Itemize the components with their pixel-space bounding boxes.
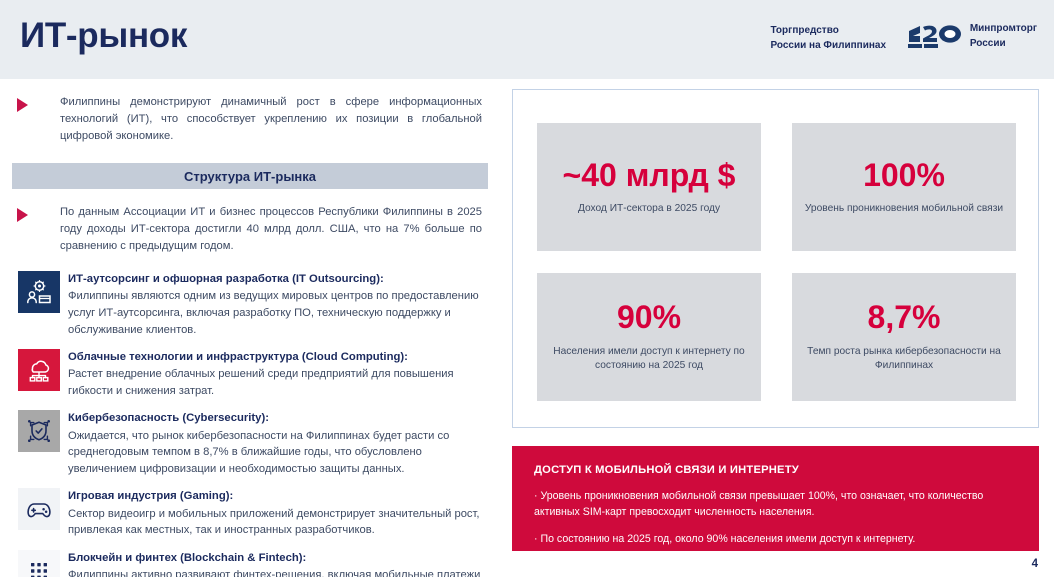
feature-description: Филиппины активно развивают финтех-решен… bbox=[68, 567, 484, 577]
feature-description: Ожидается, что рынок кибербезопасности н… bbox=[68, 428, 484, 478]
list-item: ИТ-аутсорсинг и офшорная разработка (IT … bbox=[0, 271, 500, 338]
callout-line-2: · По состоянию на 2025 год, около 90% на… bbox=[534, 532, 1017, 548]
stat-label: Темп роста рынка кибербезопасности на Фи… bbox=[802, 345, 1006, 374]
stat-card: 8,7% Темп роста рынка кибербезопасности … bbox=[792, 273, 1016, 401]
person-gear-icon bbox=[18, 271, 60, 313]
feature-title: Игровая индустрия (Gaming): bbox=[68, 489, 484, 504]
feature-title: Облачные технологии и инфраструктура (Cl… bbox=[68, 350, 484, 365]
callout-line-1: · Уровень проникновения мобильной связи … bbox=[534, 489, 1017, 521]
stat-value: 90% bbox=[617, 300, 681, 335]
statistics-panel: ~40 млрд $ Доход ИТ-сектора в 2025 году … bbox=[512, 89, 1039, 428]
section-band-label: Структура ИТ-рынка bbox=[184, 169, 316, 184]
feature-title: Блокчейн и финтех (Blockchain & Fintech)… bbox=[68, 551, 484, 566]
minpromtorg-120-logo-icon bbox=[907, 24, 963, 50]
stat-label: Уровень проникновения мобильной связи bbox=[805, 202, 1003, 216]
arrow-bullet-icon bbox=[17, 208, 28, 222]
stat-card: 90% Населения имели доступ к интернету п… bbox=[537, 273, 761, 401]
arrow-bullet-icon bbox=[17, 98, 28, 112]
feature-title: ИТ-аутсорсинг и офшорная разработка (IT … bbox=[68, 272, 484, 287]
left-column: Филиппины демонстрируют динамичный рост … bbox=[0, 79, 500, 577]
list-item: Игровая индустрия (Gaming): Сектор видео… bbox=[0, 488, 500, 538]
stat-card: 100% Уровень проникновения мобильной свя… bbox=[792, 123, 1016, 251]
association-bullet: По данным Ассоциации ИТ и бизнес процесс… bbox=[0, 204, 500, 255]
dot-grid-icon bbox=[18, 550, 60, 577]
gamepad-icon bbox=[18, 488, 60, 530]
feature-list: ИТ-аутсорсинг и офшорная разработка (IT … bbox=[0, 271, 500, 577]
stat-value: 8,7% bbox=[868, 300, 941, 335]
intro-text: Филиппины демонстрируют динамичный рост … bbox=[60, 94, 482, 145]
slide: ИТ-рынок Торгпредство России на Филиппин… bbox=[0, 0, 1054, 577]
stat-label: Доход ИТ-сектора в 2025 году bbox=[578, 202, 720, 216]
list-item: Блокчейн и финтех (Blockchain & Fintech)… bbox=[0, 550, 500, 577]
section-band: Структура ИТ-рынка bbox=[12, 163, 488, 189]
callout-box: ДОСТУП К МОБИЛЬНОЙ СВЯЗИ И ИНТЕРНЕТУ · У… bbox=[512, 446, 1039, 551]
list-item: Кибербезопасность (Cybersecurity): Ожида… bbox=[0, 410, 500, 477]
stat-card: ~40 млрд $ Доход ИТ-сектора в 2025 году bbox=[537, 123, 761, 251]
association-text: По данным Ассоциации ИТ и бизнес процесс… bbox=[60, 204, 482, 255]
feature-description: Сектор видеоигр и мобильных приложений д… bbox=[68, 506, 484, 539]
feature-title: Кибербезопасность (Cybersecurity): bbox=[68, 411, 484, 426]
callout-title: ДОСТУП К МОБИЛЬНОЙ СВЯЗИ И ИНТЕРНЕТУ bbox=[534, 464, 1017, 476]
stat-value: 100% bbox=[863, 158, 945, 193]
page-title: ИТ-рынок bbox=[20, 16, 187, 56]
ministry-label: Минпромторг России bbox=[970, 22, 1037, 51]
stat-label: Населения имели доступ к интернету по со… bbox=[547, 345, 751, 374]
slide-header: ИТ-рынок Торгпредство России на Филиппин… bbox=[0, 0, 1054, 79]
stat-value: ~40 млрд $ bbox=[563, 158, 736, 193]
trade-representation-label: Торгпредство России на Филиппинах bbox=[770, 24, 886, 53]
list-item: Облачные технологии и инфраструктура (Cl… bbox=[0, 349, 500, 399]
cloud-network-icon bbox=[18, 349, 60, 391]
statistics-grid: ~40 млрд $ Доход ИТ-сектора в 2025 году … bbox=[537, 123, 1016, 401]
feature-description: Растет внедрение облачных решений среди … bbox=[68, 366, 484, 399]
shield-check-icon bbox=[18, 410, 60, 452]
feature-description: Филиппины являются одним из ведущих миро… bbox=[68, 288, 484, 338]
minpromtorg-logo: Минпромторг России bbox=[907, 22, 1037, 51]
intro-bullet: Филиппины демонстрируют динамичный рост … bbox=[0, 94, 500, 145]
page-number: 4 bbox=[1032, 558, 1038, 570]
